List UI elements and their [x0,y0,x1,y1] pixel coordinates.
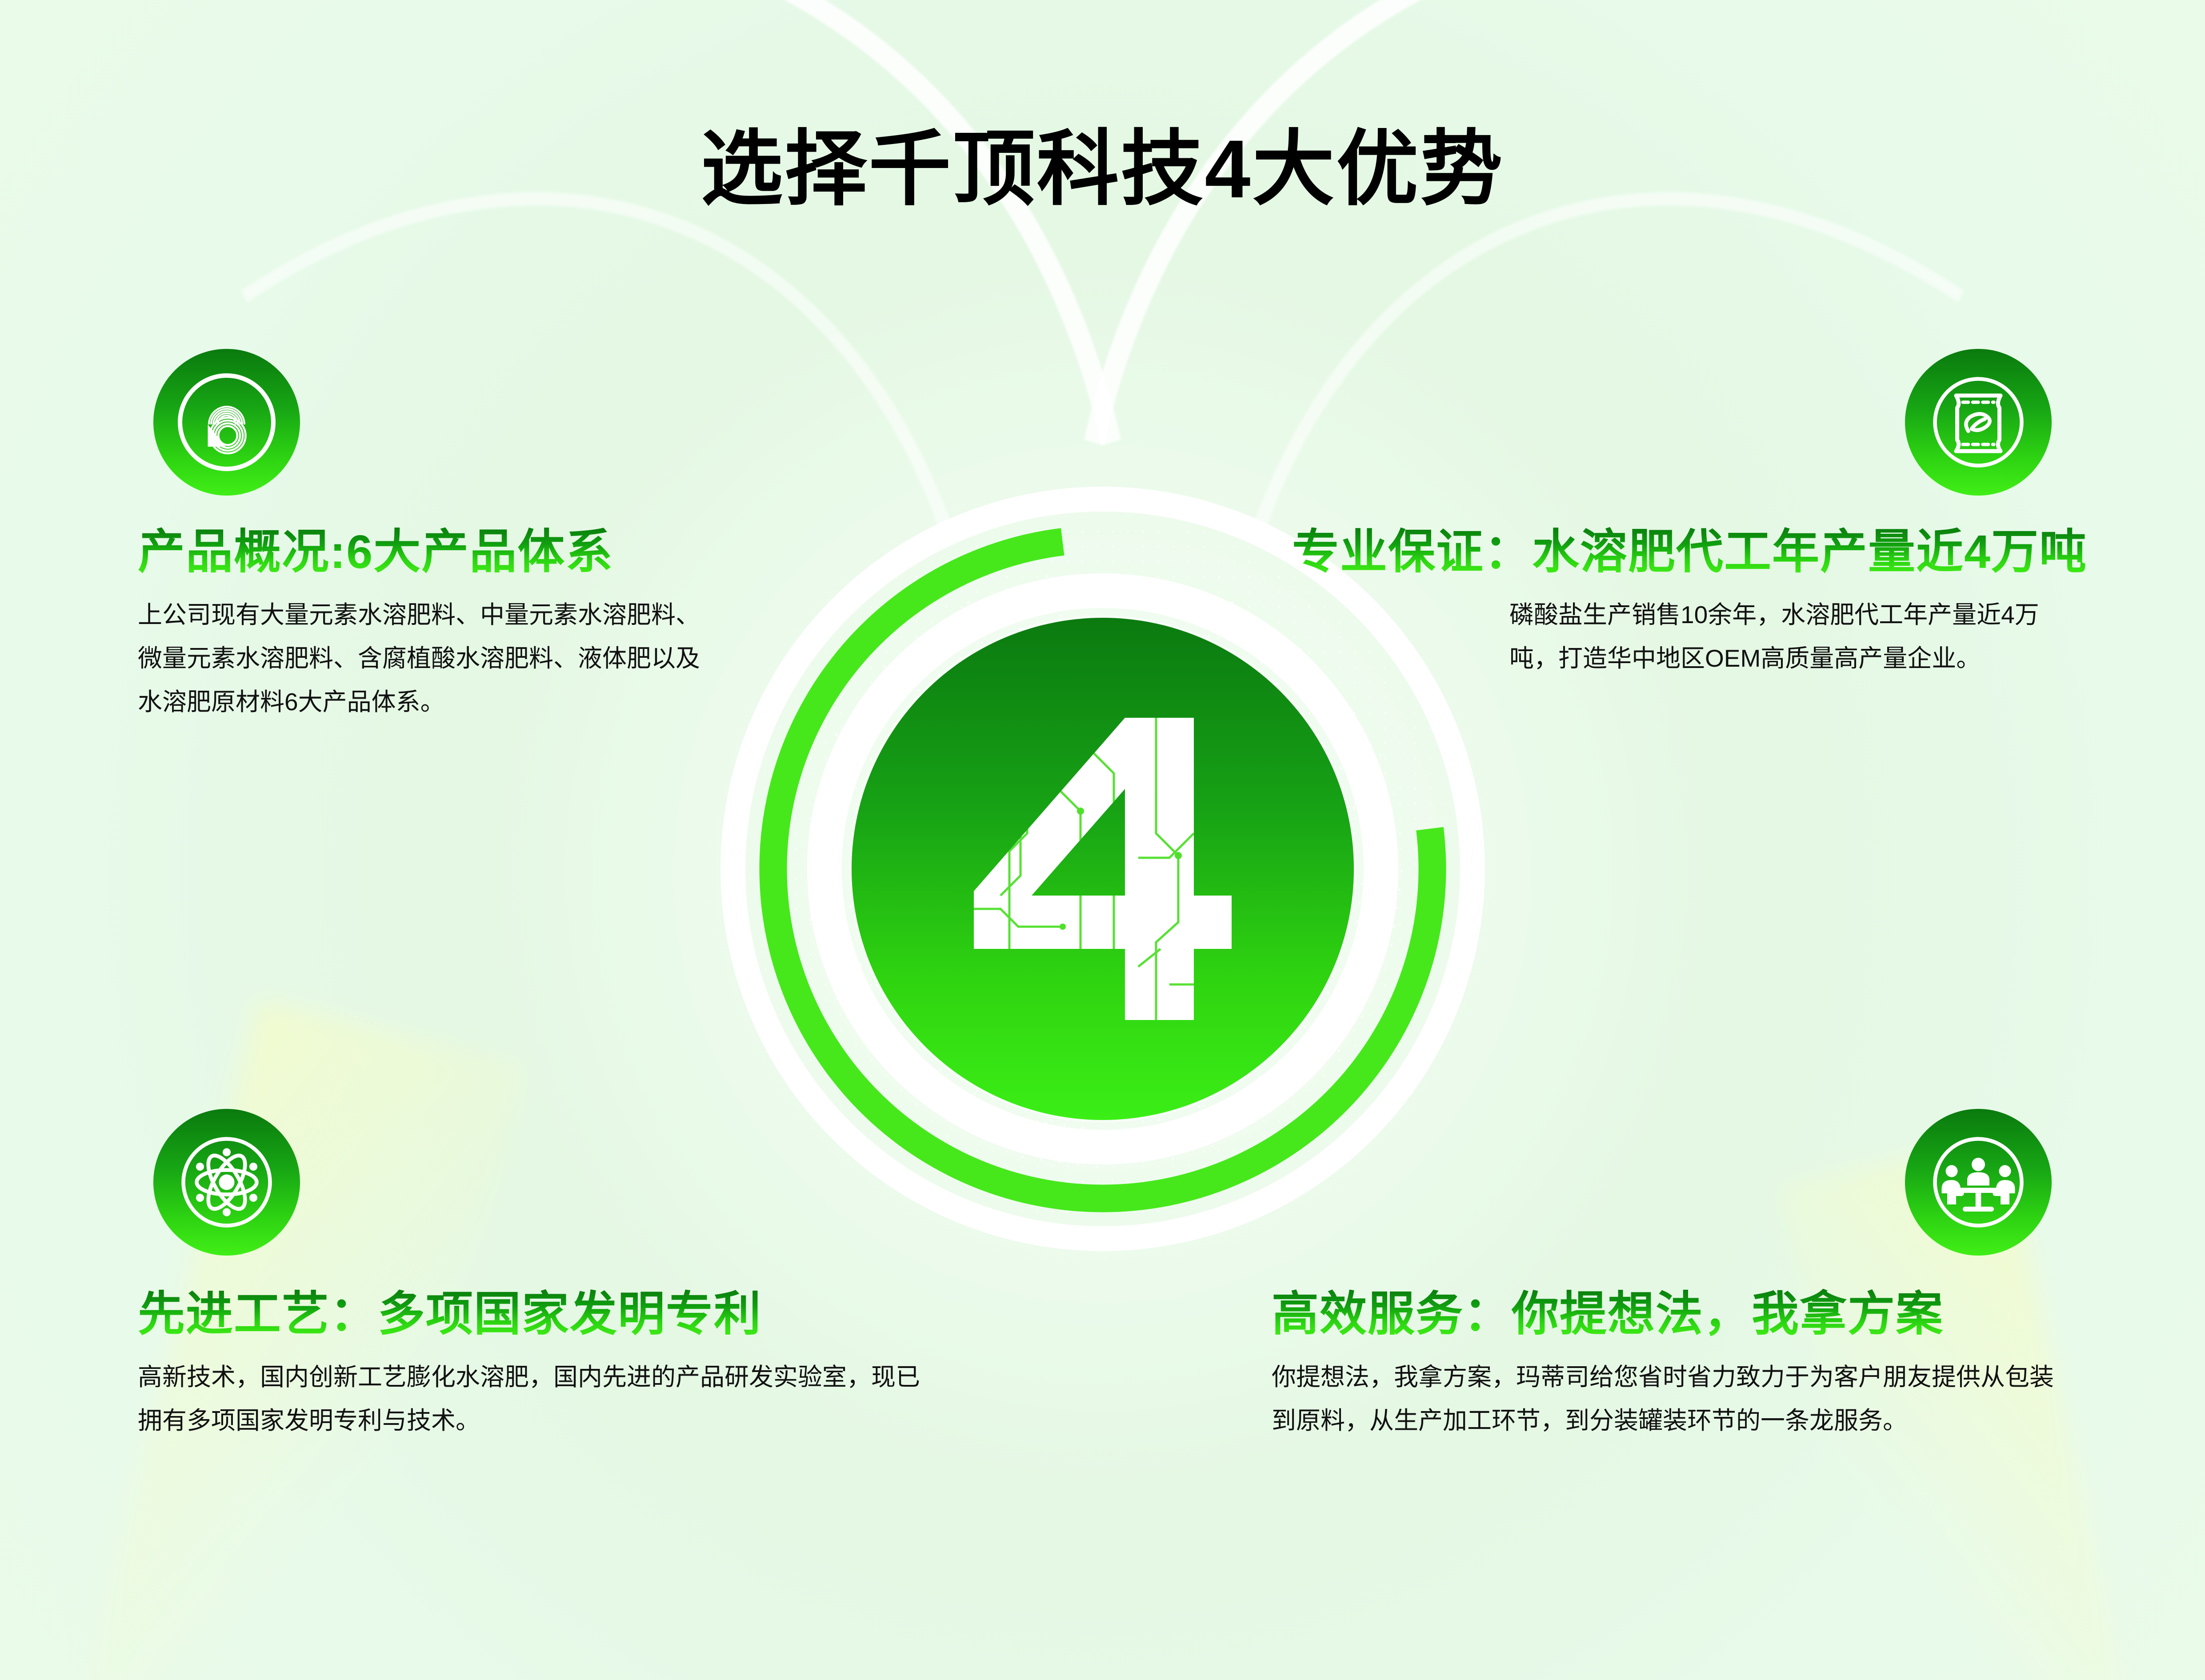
number-six-circle-icon [171,367,282,478]
advantage-body-bottom-left: 高新技术，国内创新工艺膨化水溶肥，国内先进的产品研发实验室，现已拥有多项国家发明… [138,1356,938,1443]
advantage-heading-top-right: 专业保证：水溶肥代工年产量近4万吨 [1020,527,2087,577]
atom-icon [171,1127,282,1238]
fertilizer-bag-icon [1923,367,2034,478]
badge-bottom-left [153,1109,300,1256]
center-ring-group [569,336,1636,1402]
advantage-block-bottom-right: 高效服务：你提想法，我拿方案 你提想法，我拿方案，玛蒂司给您省时省力致力于为客户… [1272,1289,2072,1443]
meeting-table-icon [1923,1127,2034,1238]
advantage-body-top-left: 上公司现有大量元素水溶肥料、中量元素水溶肥料、微量元素水溶肥料、含腐植酸水溶肥料… [138,593,716,724]
advantage-body-bottom-right: 你提想法，我拿方案，玛蒂司给您省时省力致力于为客户朋友提供从包装到原料，从生产加… [1272,1356,2072,1443]
advantage-block-top-left: 产品概况:6大产品体系 上公司现有大量元素水溶肥料、中量元素水溶肥料、微量元素水… [138,527,716,724]
advantage-heading-bottom-left: 先进工艺：多项国家发明专利 [138,1289,938,1340]
center-number-four-graphic [947,700,1258,1038]
advantage-body-top-right: 磷酸盐生产销售10余年，水溶肥代工年产量近4万吨，打造华中地区OEM高质量高产量… [1509,593,2087,680]
center-core-circle [852,618,1354,1120]
page-title: 选择千顶科技4大优势 [0,102,2205,221]
advantage-block-bottom-left: 先进工艺：多项国家发明专利 高新技术，国内创新工艺膨化水溶肥，国内先进的产品研发… [138,1289,938,1443]
advantage-heading-bottom-right: 高效服务：你提想法，我拿方案 [1272,1289,2072,1340]
infographic-canvas: 选择千顶科技4大优势 [0,0,2205,1680]
badge-bottom-right [1905,1109,2052,1256]
advantage-heading-top-left: 产品概况:6大产品体系 [138,527,716,577]
advantage-block-top-right: 专业保证：水溶肥代工年产量近4万吨 磷酸盐生产销售10余年，水溶肥代工年产量近4… [1020,527,2087,680]
badge-top-right [1905,349,2052,496]
badge-top-left [153,349,300,496]
